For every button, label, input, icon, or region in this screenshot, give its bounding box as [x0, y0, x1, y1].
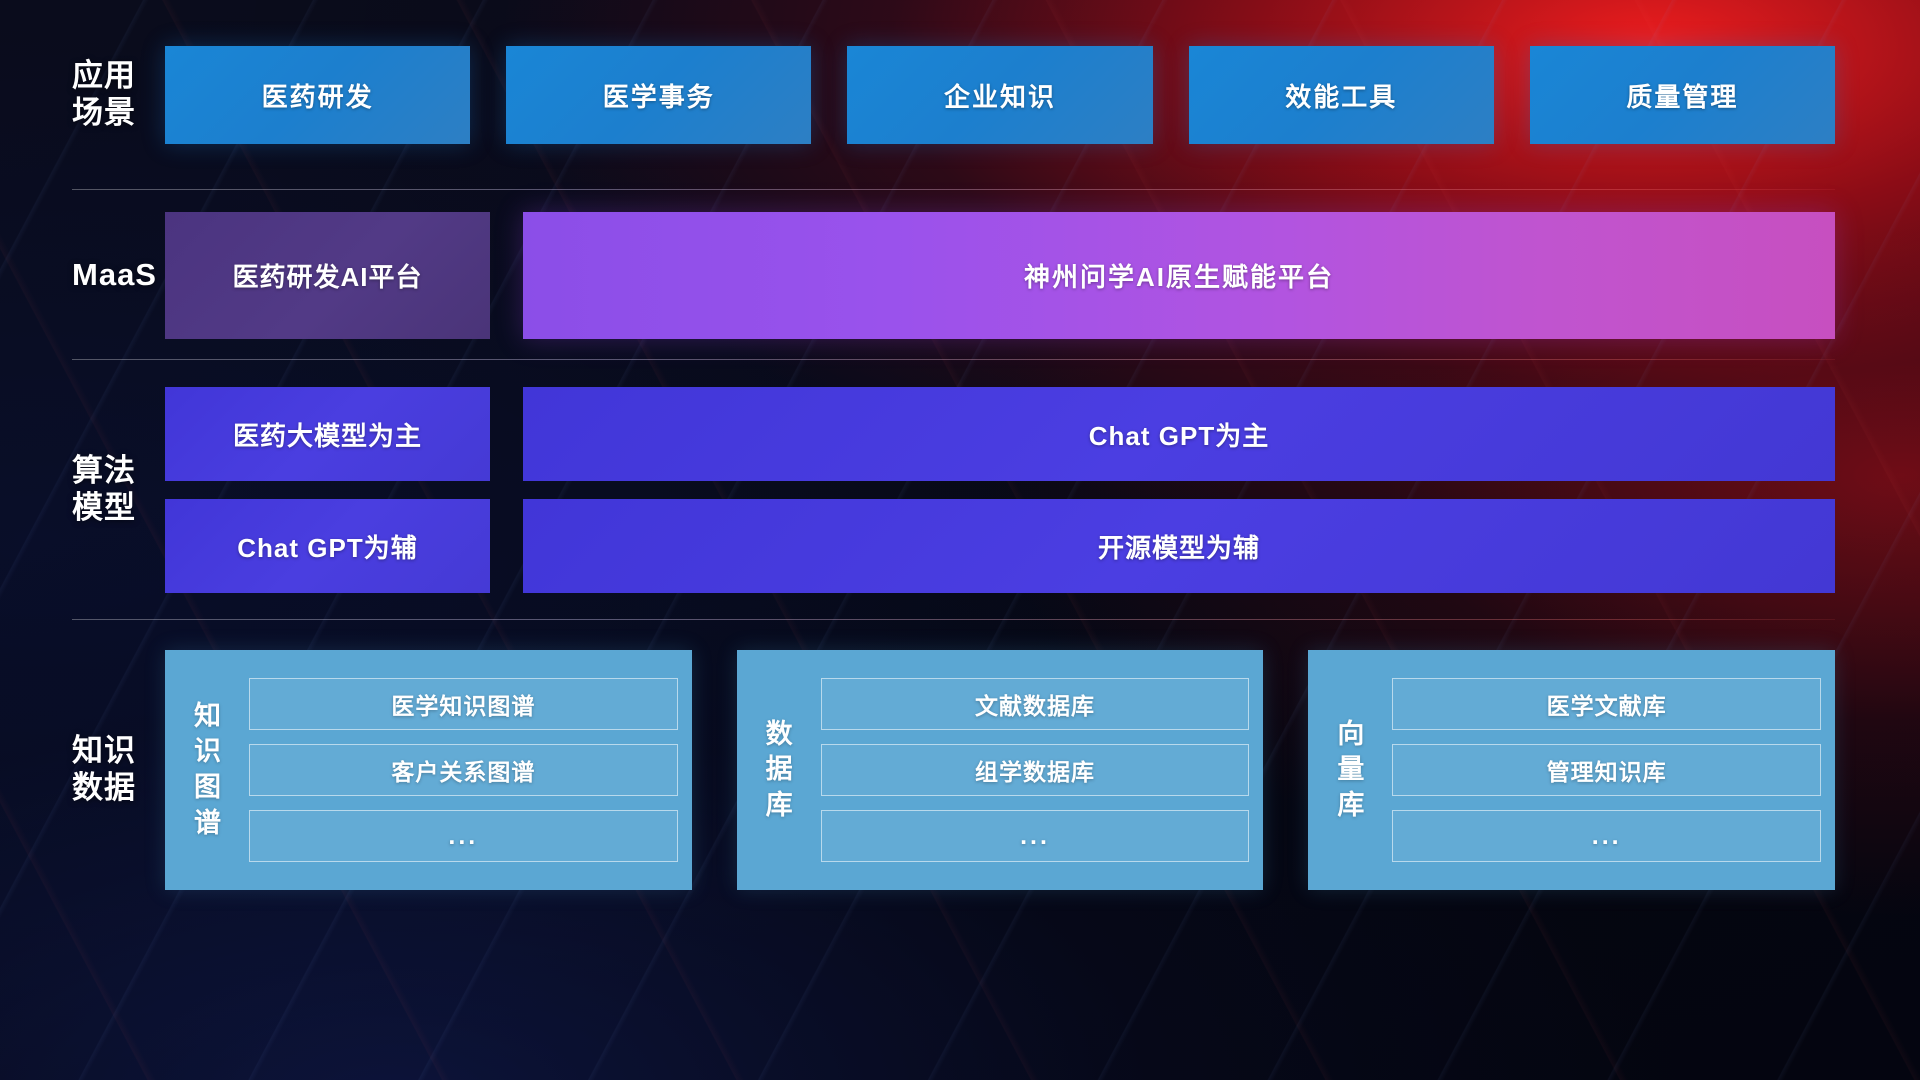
knowledge-group-title-knowledge-graph: 知 识 图 谱: [177, 662, 239, 878]
algorithm-row-secondary: Chat GPT为辅 开源模型为辅: [165, 499, 1835, 593]
knowledge-item-medical-literature-store[interactable]: 医学文献库: [1392, 678, 1821, 730]
layer-row-maas: MaaS 医药研发AI平台 神州问学AI原生赋能平台: [0, 190, 1920, 360]
algorithm-box-list: 医药大模型为主 Chat GPT为主 Chat GPT为辅 开源模型为辅: [165, 387, 1920, 593]
knowledge-item-list: 医学文献库 管理知识库 ...: [1382, 662, 1821, 878]
knowledge-group-vector-store[interactable]: 向 量 库 医学文献库 管理知识库 ...: [1308, 650, 1835, 890]
layer-row-application-scenarios: 应用 场景 医药研发 医学事务 企业知识 效能工具 质量管理: [0, 0, 1920, 190]
row-label-line: 数据: [72, 770, 165, 807]
title-char: 库: [1337, 788, 1365, 824]
algo-box-pharma-large-model-primary[interactable]: 医药大模型为主: [165, 387, 490, 481]
row-label-algorithm-models: 算法 模型: [0, 453, 165, 526]
row-label-line: 应用: [72, 58, 165, 95]
layer-row-algorithm-models: 算法 模型 医药大模型为主 Chat GPT为主 Chat GPT为辅 开源模型…: [0, 360, 1920, 620]
row-label-line: MaaS: [72, 257, 165, 294]
algorithm-row-primary: 医药大模型为主 Chat GPT为主: [165, 387, 1835, 481]
row-divider-3: [72, 619, 1835, 620]
row-label-line: 场景: [72, 95, 165, 132]
algo-box-chatgpt-primary[interactable]: Chat GPT为主: [523, 387, 1835, 481]
knowledge-item-customer-relation-graph[interactable]: 客户关系图谱: [249, 744, 678, 796]
title-char: 向: [1337, 717, 1365, 753]
title-char: 数: [766, 717, 794, 753]
knowledge-item-literature-database[interactable]: 文献数据库: [821, 678, 1250, 730]
title-char: 谱: [194, 806, 222, 842]
knowledge-item-more[interactable]: ...: [821, 810, 1250, 862]
knowledge-item-more[interactable]: ...: [1392, 810, 1821, 862]
title-char: 库: [766, 788, 794, 824]
layer-row-knowledge-data: 知识 数据 知 识 图 谱 医学知识图谱 客户关系图谱 ...: [0, 620, 1920, 920]
diagram-canvas: 应用 场景 医药研发 医学事务 企业知识 效能工具 质量管理 MaaS 医药研发…: [0, 0, 1920, 1080]
row-label-line: 知识: [72, 733, 165, 770]
row-divider-1: [72, 189, 1835, 190]
knowledge-group-title-vector-store: 向 量 库: [1320, 662, 1382, 878]
row-label-line: 模型: [72, 490, 165, 527]
knowledge-item-list: 文献数据库 组学数据库 ...: [811, 662, 1250, 878]
knowledge-group-list: 知 识 图 谱 医学知识图谱 客户关系图谱 ... 数 据: [165, 650, 1920, 890]
diagram-content: 应用 场景 医药研发 医学事务 企业知识 效能工具 质量管理 MaaS 医药研发…: [0, 0, 1920, 920]
maas-box-list: 医药研发AI平台 神州问学AI原生赋能平台: [165, 212, 1920, 339]
knowledge-group-database[interactable]: 数 据 库 文献数据库 组学数据库 ...: [737, 650, 1264, 890]
knowledge-group-title-database: 数 据 库: [749, 662, 811, 878]
knowledge-item-omics-database[interactable]: 组学数据库: [821, 744, 1250, 796]
app-box-pharma-rd[interactable]: 医药研发: [165, 46, 470, 144]
row-label-maas: MaaS: [0, 257, 165, 294]
row-label-knowledge-data: 知识 数据: [0, 733, 165, 806]
title-char: 识: [194, 734, 222, 770]
application-box-list: 医药研发 医学事务 企业知识 效能工具 质量管理: [165, 46, 1920, 144]
knowledge-item-list: 医学知识图谱 客户关系图谱 ...: [239, 662, 678, 878]
app-box-quality-management[interactable]: 质量管理: [1530, 46, 1835, 144]
app-box-medical-affairs[interactable]: 医学事务: [506, 46, 811, 144]
algo-box-chatgpt-secondary[interactable]: Chat GPT为辅: [165, 499, 490, 593]
algo-box-opensource-secondary[interactable]: 开源模型为辅: [523, 499, 1835, 593]
knowledge-item-medical-knowledge-graph[interactable]: 医学知识图谱: [249, 678, 678, 730]
title-char: 据: [766, 752, 794, 788]
title-char: 知: [194, 699, 222, 735]
row-label-application-scenarios: 应用 场景: [0, 58, 165, 131]
row-label-line: 算法: [72, 453, 165, 490]
maas-box-shenzhou-wenxue-platform[interactable]: 神州问学AI原生赋能平台: [523, 212, 1835, 339]
app-box-efficiency-tools[interactable]: 效能工具: [1189, 46, 1494, 144]
knowledge-item-more[interactable]: ...: [249, 810, 678, 862]
title-char: 量: [1337, 752, 1365, 788]
app-box-enterprise-knowledge[interactable]: 企业知识: [847, 46, 1152, 144]
knowledge-item-management-knowledge-store[interactable]: 管理知识库: [1392, 744, 1821, 796]
maas-box-pharma-ai-platform[interactable]: 医药研发AI平台: [165, 212, 490, 339]
title-char: 图: [194, 770, 222, 806]
knowledge-group-knowledge-graph[interactable]: 知 识 图 谱 医学知识图谱 客户关系图谱 ...: [165, 650, 692, 890]
row-divider-2: [72, 359, 1835, 360]
